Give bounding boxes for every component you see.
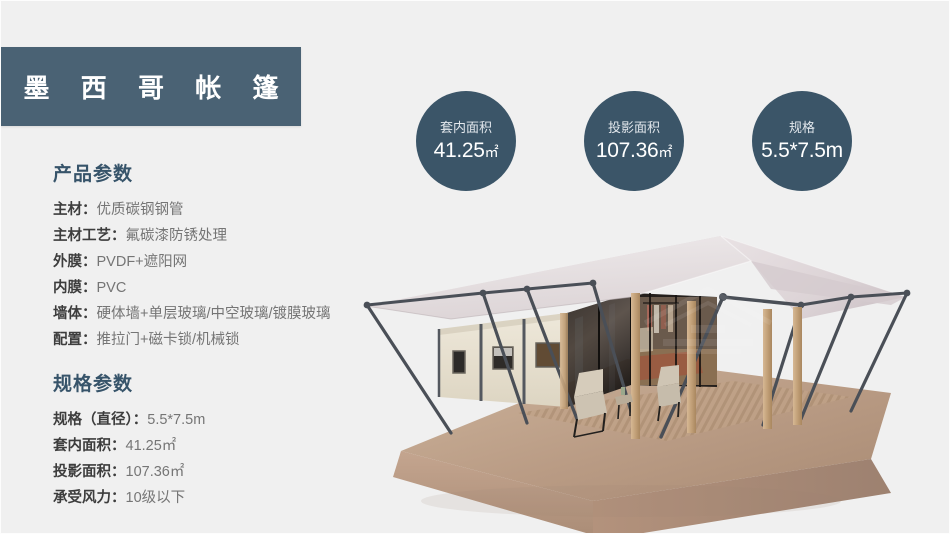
spec-label: 墙体：	[53, 306, 97, 322]
page-title: 墨 西 哥 帐 篷	[12, 68, 291, 105]
spec-label: 配置：	[53, 332, 97, 348]
spec-value: 5.5*7.5m	[147, 412, 205, 428]
stat-value: 41.25㎡	[434, 139, 499, 162]
spec-value: PVDF+遮阳网	[97, 254, 188, 270]
spec-value: 优质碳钢钢管	[97, 202, 184, 218]
spec-value: 推拉门+磁卡锁/机械锁	[97, 332, 240, 348]
stat-value: 107.36㎡	[596, 139, 672, 162]
spec-label: 内膜：	[53, 280, 97, 296]
stat-caption: 规格	[789, 120, 815, 136]
spec-label: 主材：	[53, 202, 97, 218]
tent-render-image	[331, 201, 950, 534]
spec-label: 承受风力：	[53, 490, 126, 506]
stat-number: 41.25	[434, 139, 485, 162]
section-heading-product: 产品参数	[53, 165, 383, 186]
stat-unit: ㎡	[485, 144, 499, 160]
stat-badge-dimensions: 规格 5.5*7.5m	[752, 91, 852, 191]
spec-label: 套内面积：	[53, 438, 126, 454]
stat-caption: 投影面积	[608, 120, 660, 136]
stat-badge-projected-area: 投影面积 107.36㎡	[584, 91, 684, 191]
spec-value: 107.36㎡	[126, 464, 185, 480]
hard-wall-modules	[439, 313, 567, 407]
spec-label: 规格（直径）：	[53, 412, 147, 428]
spec-value: 硬体墙+单层玻璃/中空玻璃/镀膜玻璃	[97, 306, 331, 322]
spec-value: 41.25㎡	[126, 438, 177, 454]
tent-render-svg	[331, 201, 950, 534]
slide-root: 墨 西 哥 帐 篷 产品参数 主材：优质碳钢钢管 主材工艺：氟碳漆防锈处理 外膜…	[0, 0, 950, 534]
stat-value: 5.5*7.5m	[761, 139, 843, 162]
spec-value: 氟碳漆防锈处理	[126, 228, 228, 244]
spec-value: PVC	[97, 280, 127, 296]
spec-label: 主材工艺：	[53, 228, 126, 244]
stat-badge-interior-area: 套内面积 41.25㎡	[416, 91, 516, 191]
spec-label: 外膜：	[53, 254, 97, 270]
stat-unit: ㎡	[658, 144, 672, 160]
stat-caption: 套内面积	[440, 120, 492, 136]
title-banner: 墨 西 哥 帐 篷	[1, 47, 301, 126]
stat-number: 107.36	[596, 139, 658, 162]
spec-label: 投影面积：	[53, 464, 126, 480]
spec-value: 10级以下	[126, 490, 186, 506]
stat-number: 5.5*7.5m	[761, 139, 843, 162]
ground-shadow	[421, 485, 841, 517]
